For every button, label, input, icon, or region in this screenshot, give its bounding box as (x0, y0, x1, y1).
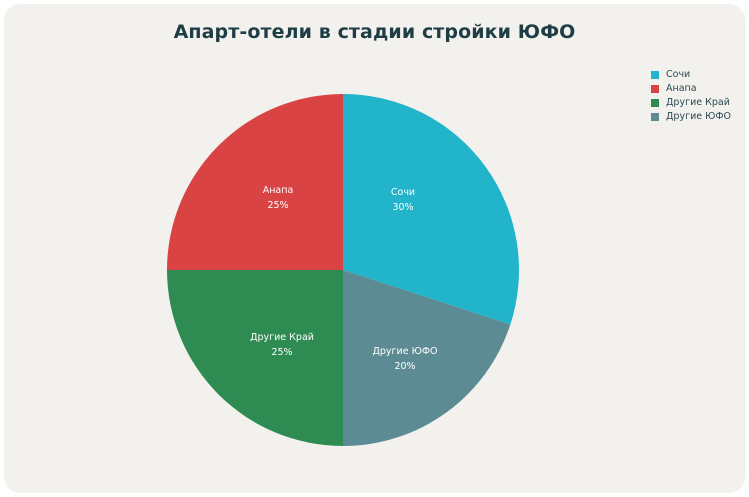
legend-item[interactable]: Другие Край (651, 96, 745, 110)
legend-color-swatch-icon (651, 85, 659, 93)
legend-item-label: Другие Край (666, 96, 730, 110)
pie-slice[interactable] (167, 94, 343, 270)
legend-color-swatch-icon (651, 99, 659, 107)
pie-slice-name-label: Сочи (391, 187, 415, 198)
pie-slice-group (167, 94, 519, 446)
pie-slice-name-label: Анапа (263, 185, 294, 196)
pie-slice-name-label: Другие ЮФО (372, 346, 437, 357)
pie-slice-value-label: 25% (267, 200, 288, 211)
pie-slice[interactable] (167, 270, 343, 446)
legend-item-label: Анапа (666, 82, 697, 96)
legend-item-label: Сочи (666, 68, 690, 82)
chart-card: Апарт-отели в стадии стройки ЮФО Сочи30%… (4, 4, 745, 493)
pie-slice-value-label: 25% (271, 347, 292, 358)
legend-color-swatch-icon (651, 71, 659, 79)
pie-slice-value-label: 20% (394, 361, 415, 372)
page-title: Апарт-отели в стадии стройки ЮФО (4, 21, 745, 43)
pie-slice-value-label: 30% (392, 202, 413, 213)
legend-item-label: Другие ЮФО (666, 110, 731, 124)
pie-chart: Сочи30%Другие ЮФО20%Другие Край25%Анапа2… (163, 90, 523, 450)
legend-item[interactable]: Другие ЮФО (651, 110, 745, 124)
pie-slice-name-label: Другие Край (250, 332, 314, 343)
legend-item[interactable]: Сочи (651, 68, 745, 82)
chart-legend: СочиАнапаДругие КрайДругие ЮФО (651, 68, 745, 124)
pie-chart-svg: Сочи30%Другие ЮФО20%Другие Край25%Анапа2… (163, 90, 523, 450)
legend-item[interactable]: Анапа (651, 82, 745, 96)
legend-color-swatch-icon (651, 113, 659, 121)
